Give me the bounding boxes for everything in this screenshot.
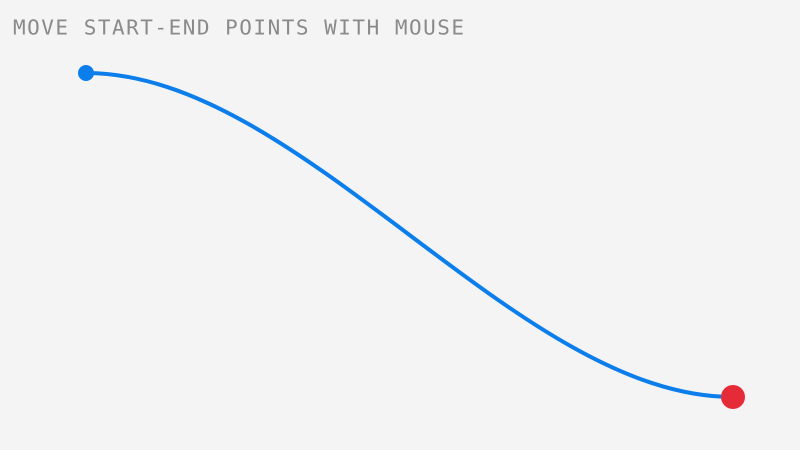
app-root: MOVE START-END POINTS WITH MOUSE bbox=[0, 0, 800, 450]
canvas-background bbox=[0, 0, 800, 450]
end-point-handle[interactable] bbox=[721, 385, 745, 409]
start-point-handle[interactable] bbox=[78, 65, 94, 81]
page-title: MOVE START-END POINTS WITH MOUSE bbox=[13, 17, 466, 40]
bezier-canvas[interactable] bbox=[0, 0, 800, 450]
